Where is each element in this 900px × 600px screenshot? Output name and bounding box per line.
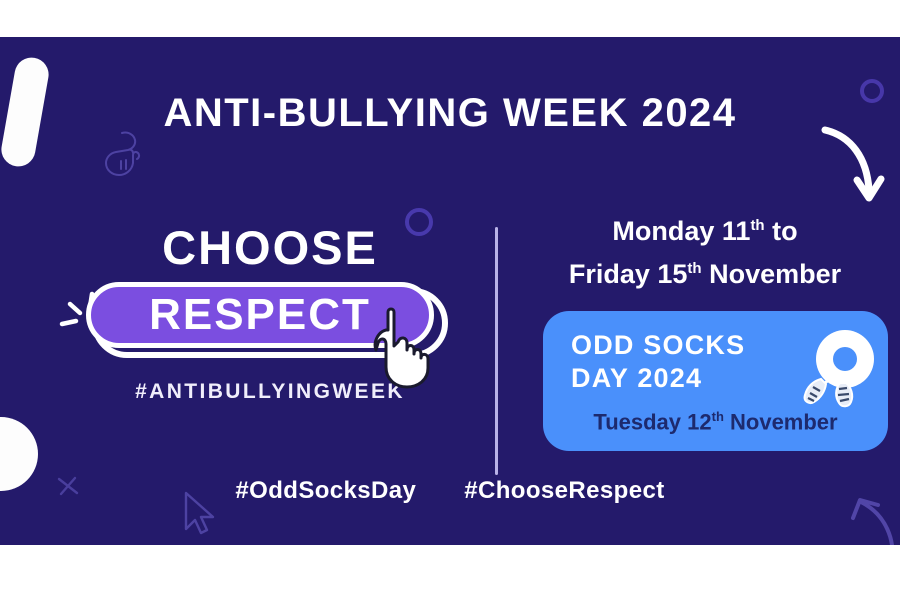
page-title: ANTI-BULLYING WEEK 2024 (0, 90, 900, 136)
respect-word: RESPECT (149, 292, 371, 338)
respect-pill-wrap: RESPECT (86, 282, 454, 364)
week-date-2-ordinal: th (687, 260, 701, 277)
week-date-line-1: Monday 11th to (520, 207, 890, 250)
week-date-1-prefix: Monday 11 (612, 216, 750, 246)
odd-socks-date-suffix: November (724, 409, 838, 434)
pointing-hand-cursor-icon (368, 304, 446, 390)
dates-block: Monday 11th to Friday 15th November ODD … (520, 207, 890, 451)
odd-socks-day-title: ODD SOCKS DAY 2024 (571, 329, 786, 395)
odd-socks-date-prefix: Tuesday 12 (593, 409, 711, 434)
choose-respect-block: CHOOSE RESPECT #ANTIBULLYINGWEEK (60, 222, 480, 404)
odd-socks-day-card[interactable]: ODD SOCKS DAY 2024 Tuesday 12th Novem (543, 311, 888, 451)
odd-socks-day-date: Tuesday 12th November (543, 404, 888, 435)
hashtag-oddsocksday: #OddSocksDay (235, 477, 416, 505)
week-date-1-suffix: to (765, 216, 798, 246)
vertical-divider (495, 227, 498, 475)
odd-socks-title-line-2: DAY 2024 (571, 363, 702, 393)
anti-bullying-week-banner: ANTI-BULLYING WEEK 2024 CHOOSE RESPECT #… (0, 37, 900, 545)
choose-word: CHOOSE (60, 222, 480, 274)
week-date-2-prefix: Friday 15 (569, 259, 688, 289)
odd-socks-date-ordinal: th (712, 409, 724, 424)
week-date-2-suffix: November (702, 259, 842, 289)
screenshot-root: ANTI-BULLYING WEEK 2024 CHOOSE RESPECT #… (0, 0, 900, 600)
hashtag-chooserespect: #ChooseRespect (464, 477, 664, 505)
week-date-1-ordinal: th (750, 217, 764, 234)
bottom-hashtags: #OddSocksDay #ChooseRespect (0, 477, 900, 505)
week-date-line-2: Friday 15th November (520, 250, 890, 293)
odd-socks-title-line-1: ODD SOCKS (571, 330, 745, 360)
